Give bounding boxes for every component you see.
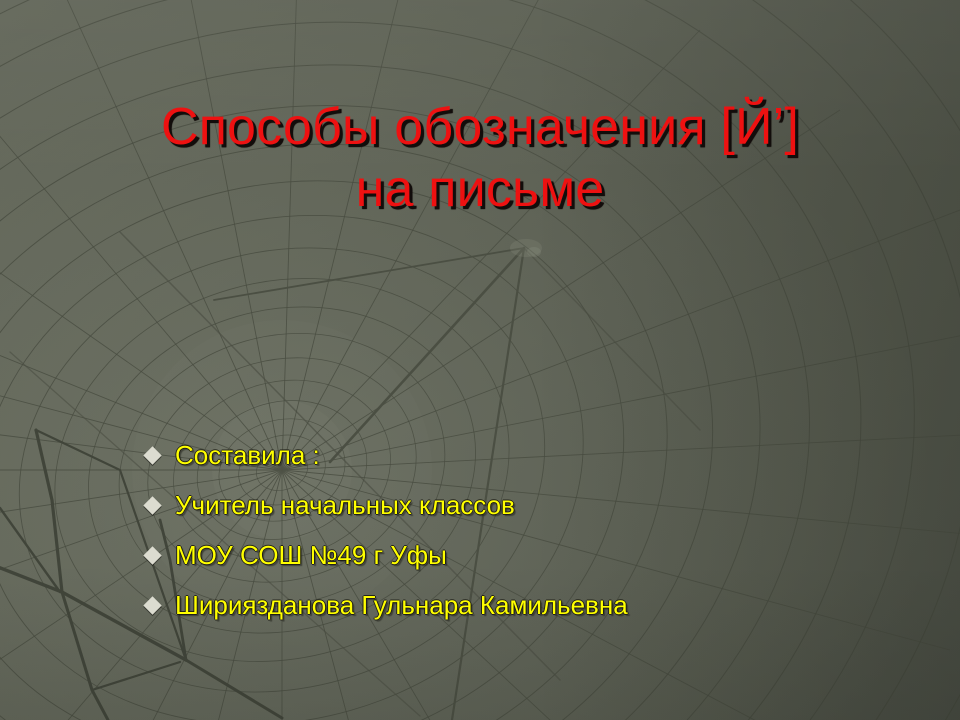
list-item: Учитель начальных классов [146,480,866,530]
diamond-bullet-icon [143,596,161,614]
diamond-bullet-icon [143,546,161,564]
slide-title: Способы обозначения [Й’] на письме [0,96,960,220]
title-line-2: на письме [0,158,960,220]
bullet-label: Составила : [175,440,320,470]
list-item: Составила : [146,430,866,480]
slide-bullet-list: Составила : Учитель начальных классов МО… [146,430,866,630]
title-line-1: Способы обозначения [Й’] [0,96,960,158]
diamond-bullet-icon [143,446,161,464]
diamond-bullet-icon [143,496,161,514]
bullet-label: МОУ СОШ №49 г Уфы [175,540,447,570]
list-item: МОУ СОШ №49 г Уфы [146,530,866,580]
bullet-label: Учитель начальных классов [175,490,515,520]
list-item: Шириязданова Гульнара Камильевна [146,580,866,630]
presentation-slide: Способы обозначения [Й’] на письме Соста… [0,0,960,720]
bullet-label: Шириязданова Гульнара Камильевна [175,590,628,620]
